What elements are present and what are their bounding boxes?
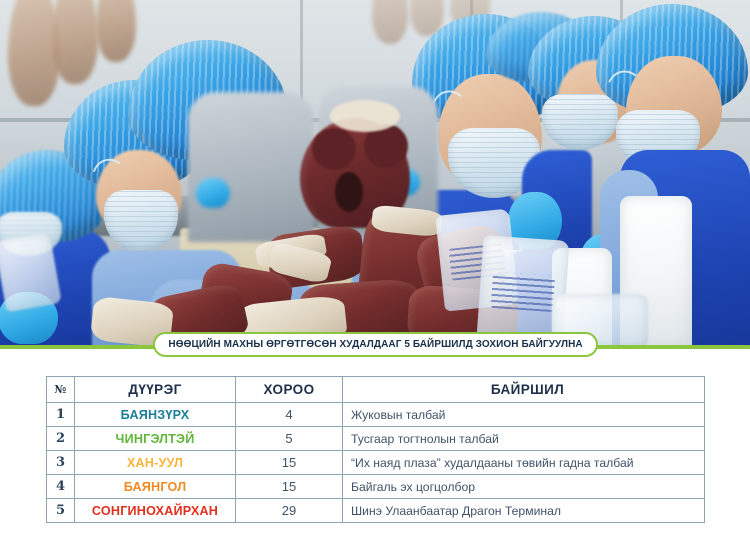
header-photo <box>0 0 750 347</box>
cell-khoroo: 5 <box>236 427 343 451</box>
bag-print <box>491 272 555 312</box>
cell-no: 1 <box>47 403 75 427</box>
cell-location: Тусгаар тогтнолын талбай <box>343 427 705 451</box>
table-row: 5СОНГИНОХАЙРХАН29Шинэ Улаанбаатар Драгон… <box>47 499 705 523</box>
headline-banner: НӨӨЦИЙН МАХНЫ ӨРГӨТГӨСӨН ХУДАЛДААГ 5 БАЙ… <box>153 332 598 357</box>
table-body: 1БАЯНЗҮРХ4Жуковын талбай2ЧИНГЭЛТЭЙ5Тусга… <box>47 403 705 523</box>
locations-table: № ДҮҮРЭГ ХОРОО БАЙРШИЛ 1БАЯНЗҮРХ4Жуковын… <box>46 376 705 523</box>
cell-khoroo: 15 <box>236 451 343 475</box>
headline-text: НӨӨЦИЙН МАХНЫ ӨРГӨТГӨСӨН ХУДАЛДААГ 5 БАЙ… <box>168 339 582 350</box>
cell-no: 3 <box>47 451 75 475</box>
table-head: № ДҮҮРЭГ ХОРОО БАЙРШИЛ <box>47 377 705 403</box>
column-header-location: БАЙРШИЛ <box>343 377 705 403</box>
column-header-khoroo: ХОРОО <box>236 377 343 403</box>
cell-no: 4 <box>47 475 75 499</box>
table-header-row: № ДҮҮРЭГ ХОРОО БАЙРШИЛ <box>47 377 705 403</box>
cell-district: БАЯНГОЛ <box>75 475 236 499</box>
cell-khoroo: 15 <box>236 475 343 499</box>
cell-no: 5 <box>47 499 75 523</box>
table-row: 2ЧИНГЭЛТЭЙ5Тусгаар тогтнолын талбай <box>47 427 705 451</box>
cell-location: Жуковын талбай <box>343 403 705 427</box>
worker-body <box>188 92 314 242</box>
cell-khoroo: 4 <box>236 403 343 427</box>
cell-no: 2 <box>47 427 75 451</box>
locations-table-wrapper: № ДҮҮРЭГ ХОРОО БАЙРШИЛ 1БАЯНЗҮРХ4Жуковын… <box>46 376 705 523</box>
table-row: 1БАЯНЗҮРХ4Жуковын талбай <box>47 403 705 427</box>
worker-glove <box>196 178 230 208</box>
cell-district: БАЯНЗҮРХ <box>75 403 236 427</box>
cell-location: “Их наяд плаза” худалдааны төвийн гадна … <box>343 451 705 475</box>
cell-district: ЧИНГЭЛТЭЙ <box>75 427 236 451</box>
table-row: 4БАЯНГОЛ15Байгаль эх цогцолбор <box>47 475 705 499</box>
cell-location: Байгаль эх цогцолбор <box>343 475 705 499</box>
cell-location: Шинэ Улаанбаатар Драгон Терминал <box>343 499 705 523</box>
cell-district: ХАН-УУЛ <box>75 451 236 475</box>
meat-fat-cap <box>330 100 400 132</box>
meat-bone-section <box>312 128 356 170</box>
cell-khoroo: 29 <box>236 499 343 523</box>
cell-district: СОНГИНОХАЙРХАН <box>75 499 236 523</box>
meat-cavity <box>335 172 363 212</box>
column-header-no: № <box>47 377 75 403</box>
hanging-carcass <box>96 0 136 62</box>
hanging-carcass <box>52 0 98 84</box>
column-header-district: ДҮҮРЭГ <box>75 377 236 403</box>
table-row: 3ХАН-УУЛ15“Их наяд плаза” худалдааны төв… <box>47 451 705 475</box>
